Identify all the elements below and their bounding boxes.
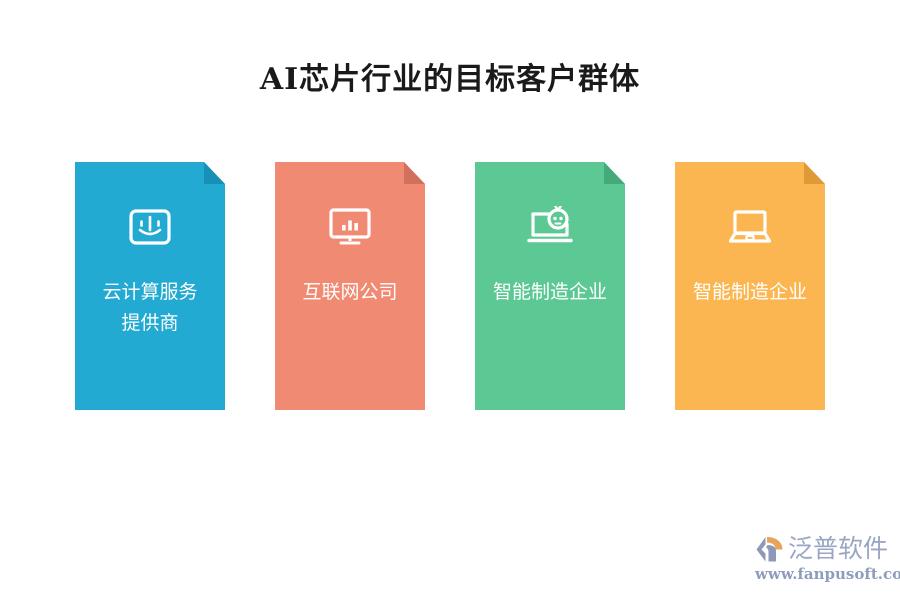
card-cloud-computing[interactable]: 云计算服务 提供商 xyxy=(75,162,225,410)
card-label-line-1: 智能制造企业 xyxy=(675,277,825,308)
card-label: 智能制造企业 xyxy=(475,277,625,308)
laptop-icon xyxy=(675,200,825,254)
brand-url: www.fanpusoft.com xyxy=(755,565,900,583)
card-smart-manufacturing-2[interactable]: 智能制造企业 xyxy=(675,162,825,410)
card-label-line-1: 云计算服务 xyxy=(75,277,225,308)
card-label-line-1: 智能制造企业 xyxy=(475,277,625,308)
card-corner-fold xyxy=(804,162,825,184)
fanpu-logo-mark-icon xyxy=(753,534,785,564)
brand-logo-row: 泛普软件 xyxy=(753,534,888,564)
brand-watermark: 泛普软件 www.fanpusoft.com xyxy=(753,532,888,588)
card-corner-fold xyxy=(404,162,425,184)
card-smart-manufacturing-1[interactable]: 智能制造企业 xyxy=(475,162,625,410)
poster-canvas: AI芯片行业的目标客户群体 云计算服务 提供商 xyxy=(0,0,900,600)
card-corner-fold xyxy=(204,162,225,184)
card-label-line-1: 互联网公司 xyxy=(275,277,425,308)
page-title: AI芯片行业的目标客户群体 xyxy=(0,60,900,100)
card-label: 智能制造企业 xyxy=(675,277,825,308)
laptop-robot-icon xyxy=(475,200,625,254)
card-internet-company[interactable]: 互联网公司 xyxy=(275,162,425,410)
monitor-bar-chart-icon xyxy=(275,200,425,254)
card-label: 互联网公司 xyxy=(275,277,425,308)
card-label: 云计算服务 提供商 xyxy=(75,277,225,339)
card-list: 云计算服务 提供商 互联网公司 xyxy=(75,162,825,412)
finder-face-monitor-icon xyxy=(75,200,225,254)
card-label-line-2: 提供商 xyxy=(75,308,225,339)
card-corner-fold xyxy=(604,162,625,184)
brand-name: 泛普软件 xyxy=(788,535,888,563)
